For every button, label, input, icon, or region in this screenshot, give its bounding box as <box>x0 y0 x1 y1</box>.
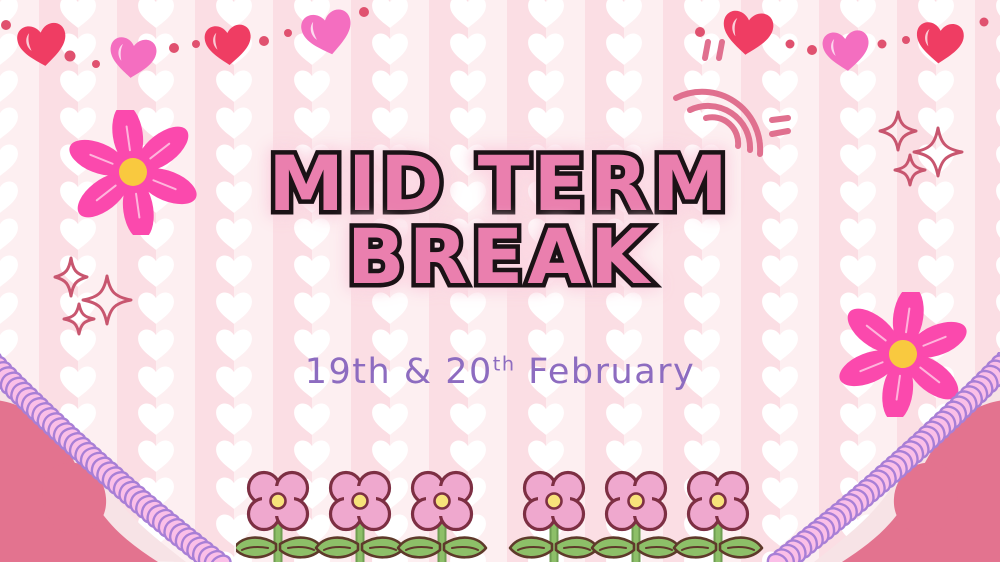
poster-subtitle: 19th & 20th February <box>0 352 1000 392</box>
tulip-flower <box>398 473 486 562</box>
tulip-flower <box>592 473 680 562</box>
tulip-flower <box>316 473 404 562</box>
tulip-flower <box>510 473 598 562</box>
tulip-flower <box>236 473 322 562</box>
subtitle-suffix: February <box>516 352 696 392</box>
tulip-flower <box>674 473 762 562</box>
tulip-flower-row <box>236 470 776 562</box>
subtitle-prefix: 19th & 20 <box>305 352 493 392</box>
poster-canvas: MID TERM BREAK 19th & 20th February <box>0 0 1000 562</box>
subtitle-superscript: th <box>493 352 516 375</box>
